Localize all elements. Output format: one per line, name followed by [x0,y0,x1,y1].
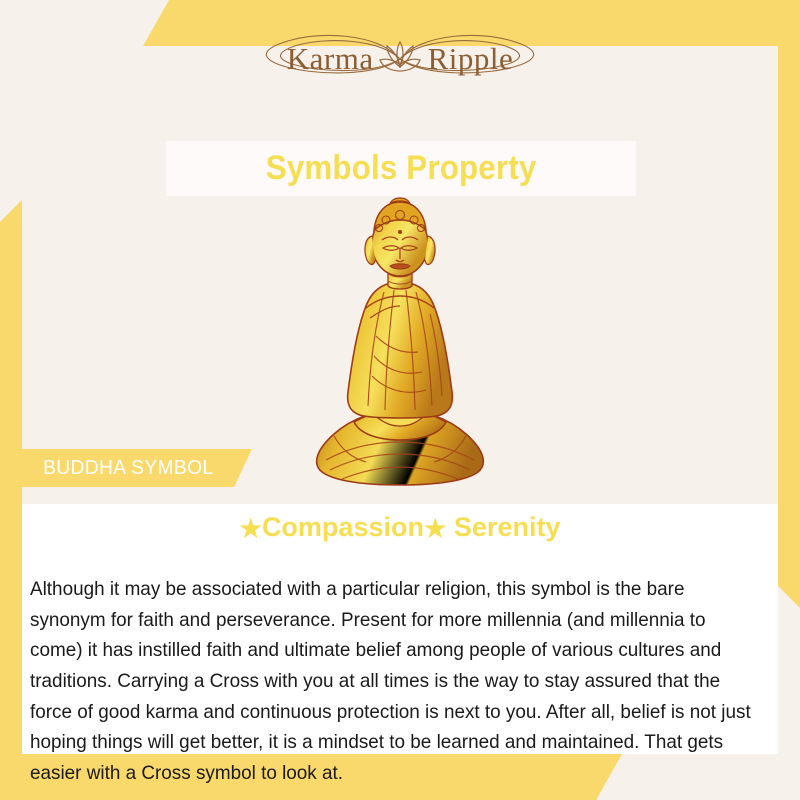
brand-name-first: Karma [287,41,374,77]
symbol-category-label: BUDDHA SYMBOL [22,457,213,480]
title-banner: Symbols Property [166,141,636,196]
brand-logo: Karma Ripple [0,0,800,118]
poster-canvas: Karma Ripple Symbols Property [0,0,800,800]
brand-name-second: Ripple [428,41,514,77]
brand-logo-wrap: Karma Ripple [250,27,550,91]
buddha-statue-illustration [290,196,510,496]
decorative-band-left [0,200,22,754]
attributes-subtitle: ★Compassion★ Serenity [0,512,800,544]
page-title: Symbols Property [266,149,537,188]
description-paragraph: Although it may be associated with a par… [30,575,761,789]
symbol-category-tag: BUDDHA SYMBOL [22,449,252,487]
attribute-compassion: Compassion [262,512,424,542]
star-icon-second: ★ [424,515,446,543]
attribute-serenity: Serenity [454,512,561,542]
brand-name: Karma Ripple [287,41,514,77]
star-icon-first: ★ [240,515,262,543]
